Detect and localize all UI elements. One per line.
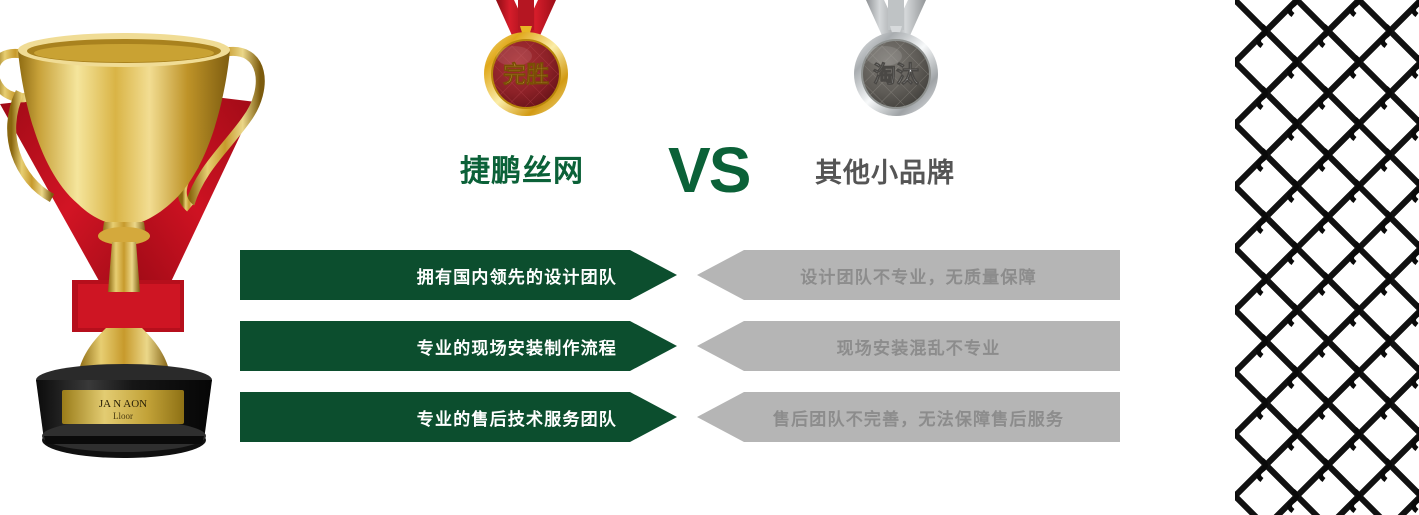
con-text: 现场安装混乱不专业 [817,334,1001,359]
medal-ribbon-center [888,0,904,30]
medal-ribbon-center [518,0,534,30]
con-text: 售后团队不完善，无法保障售后服务 [753,405,1064,430]
silver-medal-icon: 淘汰 [836,0,956,125]
silver-medal-label: 淘汰 [873,61,920,87]
chain-link-fence [1235,0,1419,515]
vs-heading-row: 捷鹏丝网 VS 其他小品牌 [440,146,1010,202]
con-chevron-bar: 设计团队不专业，无质量保障 [697,250,1120,300]
comparison-row: 专业的售后技术服务团队 售后团队不完善，无法保障售后服务 [240,392,1120,442]
gold-medal-label: 完胜 [503,61,549,87]
comparison-row: 专业的现场安装制作流程 现场安装混乱不专业 [240,321,1120,371]
con-chevron-bar: 现场安装混乱不专业 [697,321,1120,371]
trophy-stem [108,242,140,292]
gold-medal-icon: 完胜 [466,0,586,125]
pro-text: 拥有国内领先的设计团队 [417,263,677,288]
promo-banner: JA N AON Lloor [0,0,1419,515]
plaque-line-2: Lloor [113,411,133,421]
brand-name: 捷鹏丝网 [460,146,584,198]
pro-arrow-bar: 拥有国内领先的设计团队 [240,250,677,300]
gold-medal: 完胜 [466,0,586,125]
vs-label: VS [668,132,749,208]
con-text: 设计团队不专业，无质量保障 [780,263,1037,288]
pro-text: 专业的现场安装制作流程 [417,334,677,359]
plaque-line-1: JA N AON [99,398,147,410]
pro-text: 专业的售后技术服务团队 [417,405,677,430]
comparison-table: 拥有国内领先的设计团队 设计团队不专业，无质量保障 专业的现场安装制作流程 现场… [240,250,1120,445]
comparison-row: 拥有国内领先的设计团队 设计团队不专业，无质量保障 [240,250,1120,300]
chain-link-fence-icon [1235,0,1419,515]
pro-arrow-bar: 专业的现场安装制作流程 [240,321,677,371]
pro-arrow-bar: 专业的售后技术服务团队 [240,392,677,442]
con-chevron-bar: 售后团队不完善，无法保障售后服务 [697,392,1120,442]
silver-medal: 淘汰 [836,0,956,125]
rival-name: 其他小品牌 [815,148,955,198]
